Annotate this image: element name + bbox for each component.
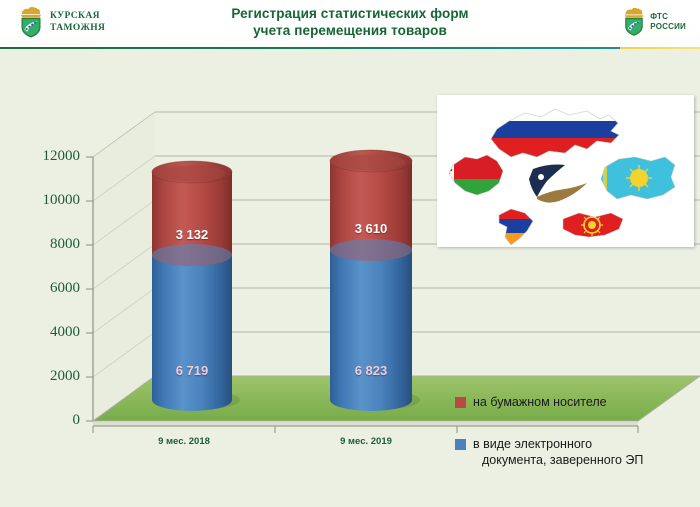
eaeu-map-image	[437, 95, 694, 247]
legend-label-electronic-line1: в виде электронного	[473, 437, 592, 451]
y-tick-label: 0	[14, 412, 80, 429]
y-tick-label: 10000	[14, 192, 80, 209]
legend-swatch-blue	[455, 439, 466, 450]
x-category-label-2018: 9 мес. 2018	[124, 436, 244, 447]
legend-swatch-red	[455, 397, 466, 408]
legend-item-electronic[interactable]: в виде электронного документа, заверенно…	[455, 436, 695, 468]
legend-label-electronic: в виде электронного документа, заверенно…	[473, 436, 643, 468]
data-label-paper-2018: 3 132	[132, 227, 252, 242]
legend-item-paper[interactable]: на бумажном носителе	[455, 394, 695, 410]
chart-legend: на бумажном носителе в виде электронного…	[455, 394, 695, 494]
legend-label-electronic-line2: документа, заверенного ЭП	[473, 452, 643, 468]
coat-of-arms-icon	[622, 7, 646, 36]
y-tick-label: 8000	[14, 236, 80, 253]
divider-yellow-segment	[620, 47, 700, 49]
fts-russia-logo: ФТС РОССИИ	[622, 7, 686, 36]
y-tick-label: 6000	[14, 280, 80, 297]
page-title: Регистрация статистических форм учета пе…	[150, 5, 550, 39]
fts-russia-logo-text: ФТС РОССИИ	[650, 12, 686, 32]
data-label-paper-2019: 3 610	[311, 221, 431, 236]
data-label-electronic-2019: 6 823	[311, 363, 431, 378]
header-divider	[0, 47, 700, 51]
kursk-customs-logo-text: КУРСКАЯ ТАМОЖНЯ	[50, 10, 105, 34]
eaeu-logo-icon	[529, 165, 587, 203]
data-label-electronic-2018: 6 719	[132, 363, 252, 378]
kursk-customs-logo: КУРСКАЯ ТАМОЖНЯ	[18, 6, 105, 38]
stacked-bar-chart: 12000 10000 8000 6000 4000 2000 0 9 мес.…	[0, 52, 700, 507]
divider-green-segment	[0, 47, 620, 49]
y-tick-label: 2000	[14, 368, 80, 385]
legend-label-paper: на бумажном носителе	[473, 394, 607, 410]
page-header: КУРСКАЯ ТАМОЖНЯ Регистрация статистическ…	[0, 0, 700, 47]
country-kazakhstan	[597, 153, 683, 203]
x-category-label-2019: 9 мес. 2019	[306, 436, 426, 447]
y-tick-label: 12000	[14, 148, 80, 165]
y-tick-label: 4000	[14, 324, 80, 341]
country-belarus	[445, 151, 509, 199]
y-axis	[86, 157, 93, 421]
coat-of-arms-icon	[18, 6, 44, 38]
